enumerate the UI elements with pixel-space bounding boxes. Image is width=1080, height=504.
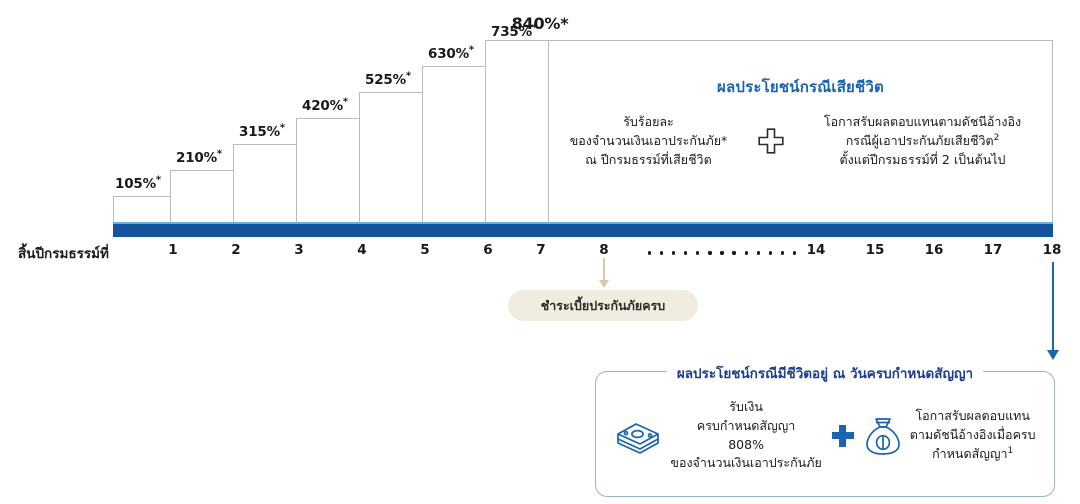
axis-tick-15: 15 (855, 242, 895, 258)
death-benefit-title: ผลประโยชน์กรณีเสียชีวิต (548, 75, 1053, 99)
death-left-line-1: รับร้อยละ (554, 112, 744, 131)
maturity-left-text: รับเงิน ครบกำหนดสัญญา 808% ของจำนวนเงินเ… (670, 398, 821, 473)
death-right-superscript: 2 (994, 133, 1000, 143)
axis-tick-8: 8 (584, 242, 624, 258)
step-label-1-value: 105% (115, 176, 156, 192)
axis-dot (672, 251, 675, 254)
step-label-6-asterisk: * (469, 45, 474, 56)
axis-tick-14: 14 (796, 242, 836, 258)
axis-dot (757, 251, 760, 254)
maturity-right-text: โอกาสรับผลตอบแทน ตามดัชนีอ้างอิงเมื่อครบ… (910, 407, 1036, 463)
death-benefit-left-text: รับร้อยละ ของจำนวนเงินเอาประกันภัย* ณ ปี… (554, 112, 744, 169)
axis-dot (648, 251, 651, 254)
step-label-4-asterisk: * (343, 97, 348, 108)
maturity-left-line-1: รับเงิน (670, 398, 821, 417)
step-label-2: 210%* (176, 150, 222, 166)
stair-step-6 (422, 66, 485, 222)
axis-tick-18: 18 (1032, 242, 1072, 258)
maturity-right-item: โอกาสรับผลตอบแทน ตามดัชนีอ้างอิงเมื่อครบ… (864, 407, 1036, 463)
step-label-6-value: 630% (428, 46, 469, 62)
money-bag-icon (864, 415, 902, 457)
step-label-3-asterisk: * (280, 123, 285, 134)
step-label-4-value: 420% (302, 98, 343, 114)
axis-tick-2: 2 (216, 242, 256, 258)
axis-dot (696, 251, 699, 254)
axis-dot (660, 251, 663, 254)
axis-tick-4: 4 (342, 242, 382, 258)
axis-caption: สิ้นปีกรมธรรม์ที่ (18, 242, 109, 264)
axis-dot (769, 251, 772, 254)
death-left-line-2: ของจำนวนเงินเอาประกันภัย* (554, 131, 744, 150)
axis-dot (708, 251, 711, 254)
stair-step-2 (170, 170, 233, 222)
premium-badge-arrow-icon (603, 258, 605, 282)
maturity-right-line-2: ตามดัชนีอ้างอิงเมื่อครบ (910, 426, 1036, 445)
step-label-6: 630%* (428, 46, 474, 62)
maturity-right-line-3-text: กำหนดสัญญา (932, 446, 1007, 461)
maturity-right-line-1: โอกาสรับผลตอบแทน (910, 407, 1036, 426)
step-label-top-840: 840%* (0, 14, 1080, 33)
money-stack-icon (614, 415, 662, 457)
maturity-right-superscript: 1 (1008, 446, 1014, 456)
axis-dot (720, 251, 723, 254)
axis-dot (745, 251, 748, 254)
maturity-left-line-3: 808% (670, 436, 821, 455)
maturity-left-line-2: ครบกำหนดสัญญา (670, 417, 821, 436)
maturity-left-line-4: ของจำนวนเงินเอาประกันภัย (670, 454, 821, 473)
death-benefit-box: ผลประโยชน์กรณีเสียชีวิต รับร้อยละ ของจำน… (548, 40, 1053, 222)
axis-tick-16: 16 (914, 242, 954, 258)
step-label-2-value: 210% (176, 150, 217, 166)
step-label-5: 525%* (365, 72, 411, 88)
timeline-bar (113, 222, 1053, 237)
maturity-left-item: รับเงิน ครบกำหนดสัญญา 808% ของจำนวนเงินเ… (614, 398, 821, 473)
axis-dot (793, 251, 796, 254)
plus-solid-icon (832, 425, 854, 447)
death-left-line-3: ณ ปีกรมธรรม์ที่เสียชีวิต (554, 150, 744, 169)
infographic-canvas: 105%* 210%* 315%* 420%* 525%* 630%* 735%… (0, 0, 1080, 504)
death-benefit-columns: รับร้อยละ ของจำนวนเงินเอาประกันภัย* ณ ปี… (548, 112, 1053, 169)
step-label-4: 420%* (302, 98, 348, 114)
axis-tick-17: 17 (973, 242, 1013, 258)
stair-step-4 (296, 118, 359, 222)
death-right-line-2-text: กรณีผู้เอาประกันภัยเสียชีวิต (846, 133, 994, 148)
step-label-2-asterisk: * (217, 149, 222, 160)
axis-ellipsis-dots (648, 249, 796, 257)
maturity-arrow-icon (1052, 262, 1054, 352)
stair-step-5 (359, 92, 422, 222)
axis-tick-3: 3 (279, 242, 319, 258)
stair-step-1 (113, 196, 170, 222)
step-label-3: 315%* (239, 124, 285, 140)
maturity-right-line-3: กำหนดสัญญา1 (910, 445, 1036, 464)
axis-dot (684, 251, 687, 254)
step-label-5-value: 525% (365, 72, 406, 88)
axis-dot (781, 251, 784, 254)
plus-outline-icon (758, 128, 784, 154)
death-right-line-1: โอกาสรับผลตอบแทนตามดัชนีอ้างอิง (798, 112, 1048, 131)
death-right-line-2: กรณีผู้เอาประกันภัยเสียชีวิต2 (798, 131, 1048, 150)
axis-dot (732, 251, 735, 254)
axis-tick-6: 6 (468, 242, 508, 258)
maturity-benefit-columns: รับเงิน ครบกำหนดสัญญา 808% ของจำนวนเงินเ… (596, 398, 1054, 473)
step-label-1: 105%* (115, 176, 161, 192)
premium-paid-badge: ชำระเบี้ยประกันภัยครบ (508, 290, 698, 321)
step-label-1-asterisk: * (156, 175, 161, 186)
death-benefit-right-text: โอกาสรับผลตอบแทนตามดัชนีอ้างอิง กรณีผู้เ… (798, 112, 1048, 169)
axis-tick-1: 1 (153, 242, 193, 258)
stair-step-7 (485, 40, 548, 222)
axis-tick-5: 5 (405, 242, 445, 258)
step-label-3-value: 315% (239, 124, 280, 140)
death-right-line-3: ตั้งแต่ปีกรมธรรม์ที่ 2 เป็นต้นไป (798, 150, 1048, 169)
maturity-benefit-box: ผลประโยชน์กรณีมีชีวิตอยู่ ณ วันครบกำหนดส… (595, 371, 1055, 497)
axis-tick-7: 7 (521, 242, 561, 258)
step-label-5-asterisk: * (406, 71, 411, 82)
stair-step-3 (233, 144, 296, 222)
maturity-benefit-title: ผลประโยชน์กรณีมีชีวิตอยู่ ณ วันครบกำหนดส… (667, 362, 983, 384)
